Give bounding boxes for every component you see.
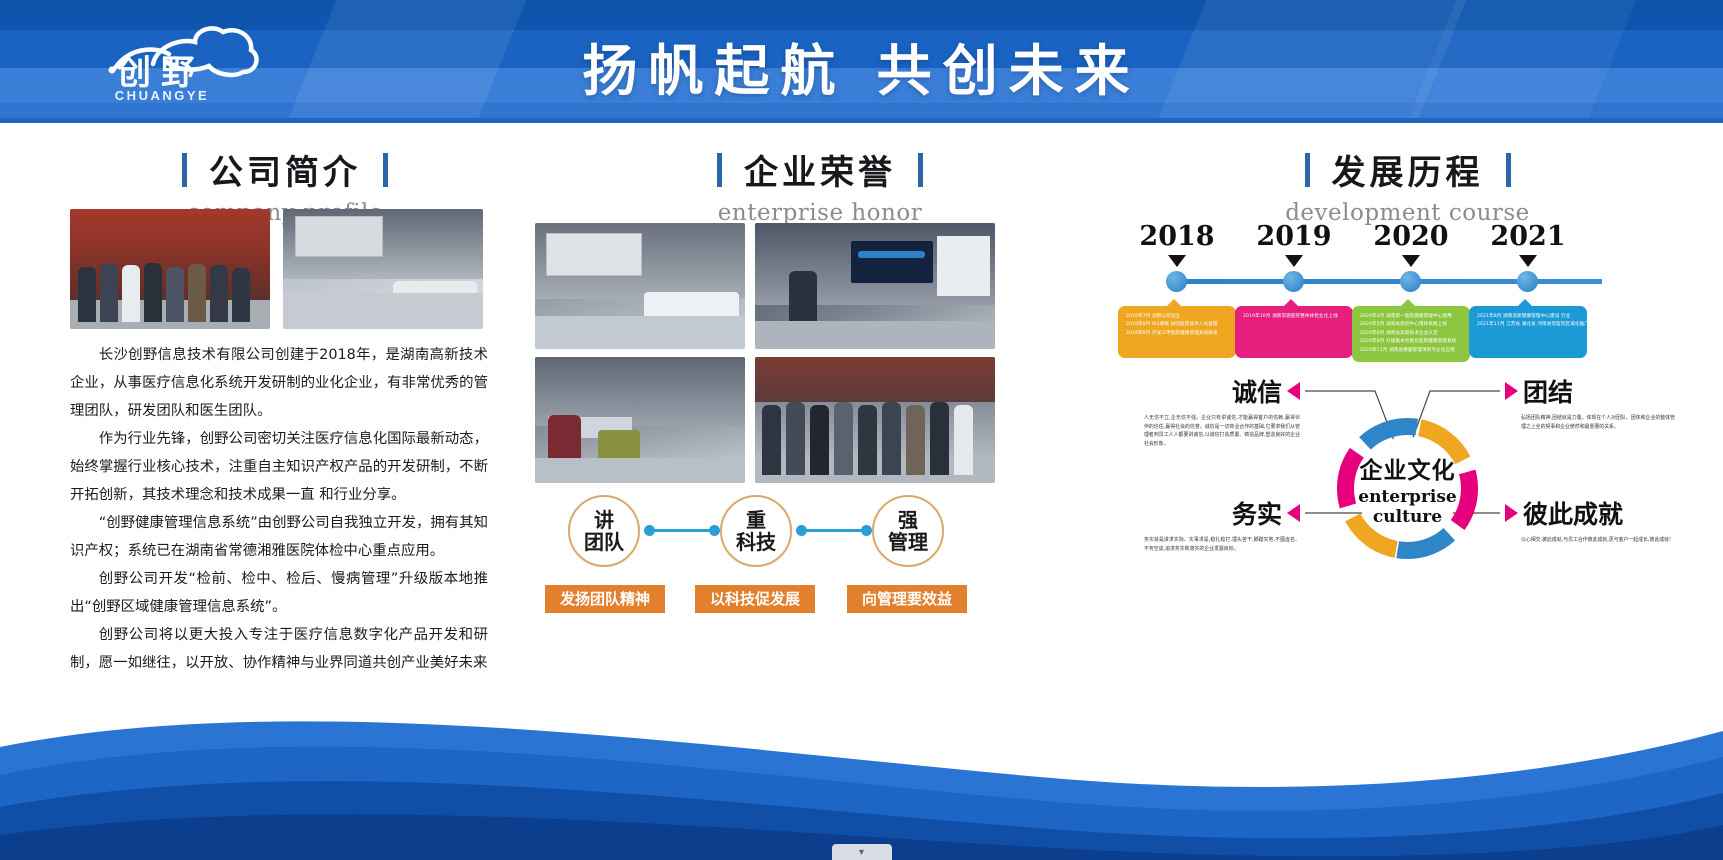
flow-dot — [861, 525, 872, 536]
timeline-card-line: 2020年8月 升级版本智能化医院健康管理系统 — [1360, 338, 1464, 346]
column-enterprise-honor: 企业荣誉 enterprise honor — [560, 123, 1080, 226]
culture-ring-center: 企业文化 enterprise culture — [1356, 437, 1459, 540]
poster-main-title: 扬帆起航 共创未来 — [0, 26, 1723, 106]
poster-header: 创野 CHUANGYE 扬帆起航 共创未来 — [0, 0, 1723, 123]
development-timeline: 2018 2019 2020 2021 2018年7月 创野公司创立 2018年… — [1130, 221, 1675, 371]
office-reception-photo — [535, 223, 745, 349]
flow-badge-management-benefit: 向管理要效益 — [847, 585, 967, 613]
arrow-left-icon — [1287, 382, 1300, 400]
timeline-card-line: 2018年7月 创野公司创立 — [1126, 313, 1230, 321]
title-tick-right — [383, 153, 388, 187]
timeline-year-2019: 2019 — [1249, 221, 1339, 252]
flow-node-line2: 团队 — [584, 531, 624, 553]
flow-connector-1 — [648, 529, 714, 532]
culture-item-title: 务实 — [1130, 495, 1300, 531]
culture-item-body: 务实就是讲求实际、实事求是,稳扎稳打,埋头苦干,脚踏实地,不图虚名、不务空谈,追… — [1130, 536, 1300, 553]
section-title-zh: 发展历程 — [1305, 145, 1511, 194]
timeline-node — [1283, 271, 1304, 292]
timeline-card-line: 2021年8月 湖南高新健康管理中心建设 行业 — [1477, 313, 1581, 321]
section-title-text: 发展历程 — [1332, 145, 1484, 194]
flow-node-line2: 管理 — [888, 531, 928, 553]
card-pointer — [1517, 299, 1533, 307]
timeline-card-line: 2020年4月 湖南第一医院健康管理中心使用 — [1360, 313, 1464, 321]
scroll-down-indicator[interactable]: ▾ — [832, 844, 892, 860]
timeline-card-2021: 2021年8月 湖南高新健康管理中心建设 行业 2021年11月 江苏省 湖北省… — [1469, 306, 1587, 358]
flow-node-line1: 强 — [898, 509, 918, 531]
title-tick-left — [182, 153, 187, 187]
section-title-zh: 企业荣誉 — [717, 145, 923, 194]
poster-footer-waves: ▾ — [0, 635, 1723, 860]
timeline-marker-icon — [1519, 255, 1537, 267]
timeline-year-2020: 2020 — [1366, 221, 1456, 252]
profile-paragraph: 作为行业先锋，创野公司密切关注医疗信息化国际最新动态，始终掌握行业核心技术，注重… — [70, 425, 488, 509]
culture-item-unity: 团结 弘扬团队精神,团结就是力量。体现在个人对团队、团体和企业的整体管理之上全的… — [1505, 373, 1675, 431]
timeline-card-line: 2018年8月 W1版联 协同医药技术人员处理 — [1126, 321, 1230, 329]
title-tick-left — [1305, 153, 1310, 187]
corporate-culture-diagram: 企业文化 enterprise culture 诚信 人无信不立,企无信不强。企… — [1130, 373, 1675, 603]
flow-dot — [644, 525, 655, 536]
culture-item-title-text: 彼此成就 — [1523, 495, 1623, 531]
column-development-course: 发展历程 development course 2018 2019 2020 2… — [1135, 123, 1680, 226]
section-title-zh: 公司简介 — [182, 145, 388, 194]
arrow-left-icon — [1287, 504, 1300, 522]
title-tick-right — [1506, 153, 1511, 187]
office-lounge-photo — [283, 209, 483, 329]
culture-item-pragmatism: 务实 务实就是讲求实际、实事求是,稳扎稳打,埋头苦干,脚踏实地,不图虚名、不务空… — [1130, 495, 1300, 553]
card-pointer — [1166, 299, 1182, 307]
culture-item-title: 团结 — [1505, 373, 1675, 409]
culture-item-body: 人无信不立,企无信不强。企业只有讲诚信,才能赢得客户的信赖,赢得伙伴的信任,赢得… — [1130, 414, 1300, 448]
culture-center-title-zh: 企业文化 — [1360, 451, 1456, 485]
timeline-card-2020: 2020年4月 湖南第一医院健康管理中心使用 2020年5月 湖南省疾控中心慢体… — [1352, 306, 1470, 362]
timeline-marker-icon — [1285, 255, 1303, 267]
flow-badge-tech-development: 以科技促发展 — [695, 585, 815, 613]
flow-badge-team-spirit: 发扬团队精神 — [545, 585, 665, 613]
timeline-card-2018: 2018年7月 创野公司创立 2018年8月 W1版联 协同医药技术人员处理 2… — [1118, 306, 1236, 358]
culture-item-title-text: 务实 — [1232, 495, 1282, 531]
culture-item-integrity: 诚信 人无信不立,企无信不强。企业只有讲诚信,才能赢得客户的信赖,赢得伙伴的信任… — [1130, 373, 1300, 448]
poster-canvas: 创野 CHUANGYE 扬帆起航 共创未来 公司简介 company profi… — [0, 0, 1723, 860]
card-pointer — [1400, 299, 1416, 307]
flow-node-line1: 讲 — [594, 509, 614, 531]
team-group-photo — [70, 209, 270, 329]
culture-center-title-en1: enterprise — [1358, 487, 1457, 507]
timeline-node — [1517, 271, 1538, 292]
timeline-year-2021: 2021 — [1483, 221, 1573, 252]
column-company-profile: 公司简介 company profile — [45, 123, 525, 226]
flow-dot — [709, 525, 720, 536]
section-title-text: 公司简介 — [209, 145, 361, 194]
section-header-enterprise-honor: 企业荣誉 enterprise honor — [560, 123, 1080, 226]
presentation-meeting-photo — [755, 223, 995, 349]
arrow-right-icon — [1505, 504, 1518, 522]
timeline-year-2018: 2018 — [1132, 221, 1222, 252]
card-pointer — [1283, 299, 1299, 307]
culture-item-title: 诚信 — [1130, 373, 1300, 409]
culture-item-title-text: 团结 — [1523, 373, 1573, 409]
timeline-card-line: 2020年6月 湖南省高新技术企业认定 — [1360, 330, 1464, 338]
timeline-node — [1166, 271, 1187, 292]
timeline-marker-icon — [1402, 255, 1420, 267]
flow-node-tech: 重 科技 — [720, 495, 792, 567]
title-tick-left — [717, 153, 722, 187]
flow-node-line1: 重 — [746, 509, 766, 531]
profile-paragraph: 创野公司开发“检前、检中、检后、慢病管理”升级版本地推出“创野区域健康管理信息系… — [70, 565, 488, 621]
profile-paragraph: 长沙创野信息技术有限公司创建于2018年，是湖南高新技术企业，从事医疗信息化系统… — [70, 341, 488, 425]
timeline-card-line: 2019年10月 湖南常德医院整体体检业化上线 — [1243, 313, 1347, 321]
values-flow-diagram: 讲 团队 重 科技 强 管理 发扬团队精神 以科技促发展 — [550, 493, 990, 643]
timeline-card-2019: 2019年10月 湖南常德医院整体体检业化上线 — [1235, 306, 1353, 358]
flow-connector-2 — [800, 529, 866, 532]
culture-item-mutual-achievement: 彼此成就 以心相交,彼此成就,与员工合作彼此成就,更与客户一起成长,彼此成就! — [1505, 495, 1675, 545]
timeline-marker-icon — [1168, 255, 1186, 267]
culture-item-body: 弘扬团队精神,团结就是力量。体现在个人对团队、团体和企业的整体管理之上全的契事和… — [1505, 414, 1675, 431]
section-title-text: 企业荣誉 — [744, 145, 896, 194]
culture-center-title-en2: culture — [1373, 507, 1442, 527]
flow-dot — [796, 525, 807, 536]
timeline-node — [1400, 271, 1421, 292]
timeline-card-line: 2021年11月 江苏省 湖北省 河南省等医院区域化推广应用 — [1477, 321, 1581, 329]
culture-ring-icon: 企业文化 enterprise culture — [1330, 411, 1485, 566]
timeline-card-line: 2018年9月 开发三甲医院健康管理系统研发 — [1126, 330, 1230, 338]
flow-node-line2: 科技 — [736, 531, 776, 553]
culture-item-title: 彼此成就 — [1505, 495, 1675, 531]
flow-node-management: 强 管理 — [872, 495, 944, 567]
arrow-right-icon — [1505, 382, 1518, 400]
company-profile-text: 长沙创野信息技术有限公司创建于2018年，是湖南高新技术企业，从事医疗信息化系统… — [70, 341, 488, 677]
timeline-card-line: 2020年5月 湖南省疾控中心慢体系统上线 — [1360, 321, 1464, 329]
culture-item-title-text: 诚信 — [1232, 373, 1282, 409]
timeline-card-line: 2020年11月 湖南省健康管理项目专业化应用 — [1360, 347, 1464, 355]
section-header-development-course: 发展历程 development course — [1135, 123, 1680, 226]
open-office-photo — [535, 357, 745, 483]
staff-group-photo — [755, 357, 995, 483]
flow-node-team: 讲 团队 — [568, 495, 640, 567]
culture-item-body: 以心相交,彼此成就,与员工合作彼此成就,更与客户一起成长,彼此成就! — [1505, 536, 1675, 545]
title-tick-right — [918, 153, 923, 187]
profile-paragraph: “创野健康管理信息系统”由创野公司自我独立开发，拥有其知识产权；系统已在湖南省常… — [70, 509, 488, 565]
